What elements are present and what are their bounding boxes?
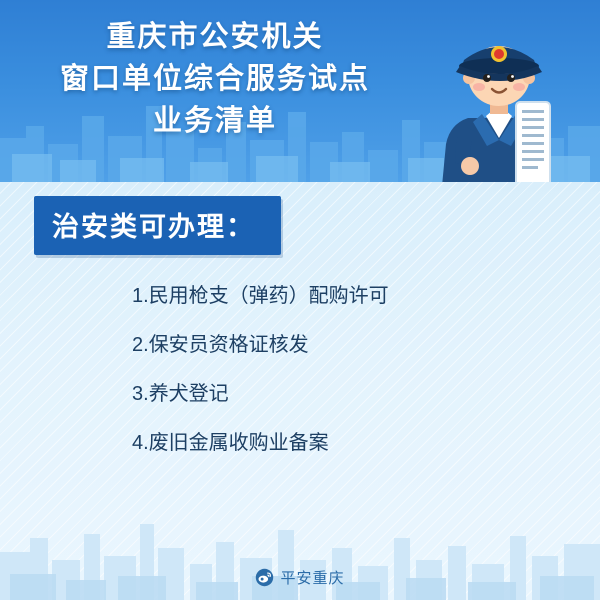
list-item-text: 养犬登记 xyxy=(149,383,229,405)
footer-account-name: 平安重庆 xyxy=(280,567,344,588)
title-line-1: 重庆市公安机关 xyxy=(0,16,430,58)
list-item-number: 3. xyxy=(132,383,149,405)
poster-title: 重庆市公安机关 窗口单位综合服务试点 业务清单 xyxy=(0,16,430,142)
police-officer-mascot-icon xyxy=(424,14,574,182)
list-item-text: 保安员资格证核发 xyxy=(149,334,309,356)
list-item: 4.废旧金属收购业备案 xyxy=(132,430,552,456)
title-line-2: 窗口单位综合服务试点 xyxy=(0,58,430,100)
section-heading-text: 治安类可办理： xyxy=(52,212,255,242)
poster-root: 重庆市公安机关 窗口单位综合服务试点 业务清单 xyxy=(0,0,600,600)
weibo-icon xyxy=(255,568,274,587)
title-line-3: 业务清单 xyxy=(0,100,430,142)
list-item-text: 民用枪支（弹药）配购许可 xyxy=(149,285,389,307)
footer-credit: 平安重庆 xyxy=(0,567,600,588)
list-item-number: 1. xyxy=(132,285,149,307)
business-list: 1.民用枪支（弹药）配购许可 2.保安员资格证核发 3.养犬登记 4.废旧金属收… xyxy=(132,283,552,479)
poster-header: 重庆市公安机关 窗口单位综合服务试点 业务清单 xyxy=(0,0,600,182)
section-heading-banner: 治安类可办理： xyxy=(34,196,281,255)
list-item: 3.养犬登记 xyxy=(132,381,552,407)
list-item-number: 2. xyxy=(132,334,149,356)
list-item: 1.民用枪支（弹药）配购许可 xyxy=(132,283,552,309)
list-item-number: 4. xyxy=(132,432,149,454)
list-item-text: 废旧金属收购业备案 xyxy=(149,432,329,454)
list-item: 2.保安员资格证核发 xyxy=(132,332,552,358)
